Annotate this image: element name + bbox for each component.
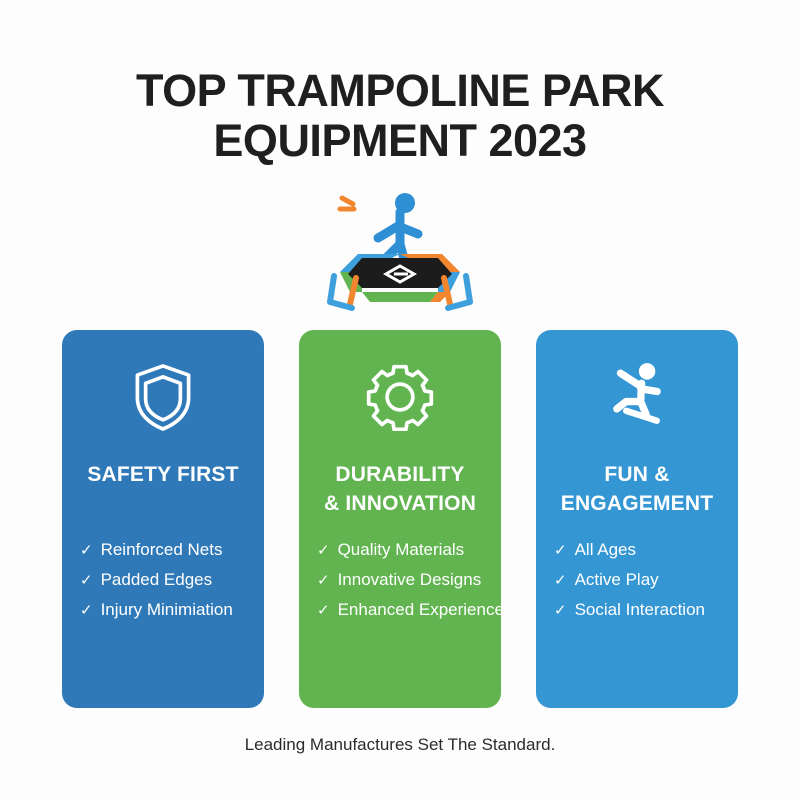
heading-line: ENGAGEMENT xyxy=(542,489,732,518)
check-icon: ✓ xyxy=(317,569,330,592)
check-icon: ✓ xyxy=(317,539,330,562)
check-icon: ✓ xyxy=(317,599,330,622)
infographic-poster: TOP TRAMPOLINE PARK EQUIPMENT 2023 xyxy=(0,0,800,800)
list-item-label: All Ages xyxy=(575,538,636,561)
footer-tagline: Leading Manufactures Set The Standard. xyxy=(0,735,800,755)
list-item-label: Enhanced Experience xyxy=(338,598,501,621)
heading-line: & INNOVATION xyxy=(305,489,495,518)
heading-line: DURABILITY xyxy=(305,460,495,489)
page-title: TOP TRAMPOLINE PARK EQUIPMENT 2023 xyxy=(50,66,750,166)
feature-card-heading-safety: SAFETY FIRST xyxy=(68,460,258,489)
page-title-line-2: EQUIPMENT 2023 xyxy=(50,116,750,166)
list-item: ✓ Active Play xyxy=(554,568,738,592)
list-item-label: Innovative Designs xyxy=(338,568,482,591)
list-item: ✓ Social Interaction xyxy=(554,598,738,622)
page-title-line-1: TOP TRAMPOLINE PARK xyxy=(50,66,750,116)
feature-card-heading-fun: FUN & ENGAGEMENT xyxy=(542,460,732,518)
list-item-label: Quality Materials xyxy=(338,538,465,561)
feature-list-durability: ✓ Quality Materials ✓ Innovative Designs… xyxy=(299,538,501,622)
check-icon: ✓ xyxy=(80,539,93,562)
feature-card-heading-durability: DURABILITY & INNOVATION xyxy=(305,460,495,518)
list-item-label: Reinforced Nets xyxy=(101,538,223,561)
check-icon: ✓ xyxy=(554,539,567,562)
feature-card-safety[interactable]: SAFETY FIRST ✓ Reinforced Nets ✓ Padded … xyxy=(62,330,264,708)
check-icon: ✓ xyxy=(554,569,567,592)
shield-icon xyxy=(131,358,195,436)
list-item: ✓ Padded Edges xyxy=(80,568,264,592)
list-item: ✓ All Ages xyxy=(554,538,738,562)
feature-card-durability[interactable]: DURABILITY & INNOVATION ✓ Quality Materi… xyxy=(299,330,501,708)
list-item-label: Social Interaction xyxy=(575,598,705,621)
feature-cards-row: SAFETY FIRST ✓ Reinforced Nets ✓ Padded … xyxy=(62,330,738,708)
list-item: ✓ Injury Minimiation xyxy=(80,598,264,622)
list-item: ✓ Innovative Designs xyxy=(317,568,501,592)
list-item: ✓ Enhanced Experience xyxy=(317,598,501,622)
check-icon: ✓ xyxy=(554,599,567,622)
trampoline-with-jumping-person-icon xyxy=(320,182,480,314)
list-item-label: Injury Minimiation xyxy=(101,598,233,621)
list-item: ✓ Quality Materials xyxy=(317,538,501,562)
list-item-label: Padded Edges xyxy=(101,568,213,591)
gear-icon xyxy=(366,358,434,436)
check-icon: ✓ xyxy=(80,599,93,622)
list-item: ✓ Reinforced Nets xyxy=(80,538,264,562)
list-item-label: Active Play xyxy=(575,568,659,591)
heading-line: SAFETY FIRST xyxy=(68,460,258,489)
feature-list-safety: ✓ Reinforced Nets ✓ Padded Edges ✓ Injur… xyxy=(62,538,264,622)
jumping-person-icon xyxy=(604,358,670,436)
heading-line: FUN & xyxy=(542,460,732,489)
check-icon: ✓ xyxy=(80,569,93,592)
feature-card-fun[interactable]: FUN & ENGAGEMENT ✓ All Ages ✓ Active Pla… xyxy=(536,330,738,708)
feature-list-fun: ✓ All Ages ✓ Active Play ✓ Social Intera… xyxy=(536,538,738,622)
